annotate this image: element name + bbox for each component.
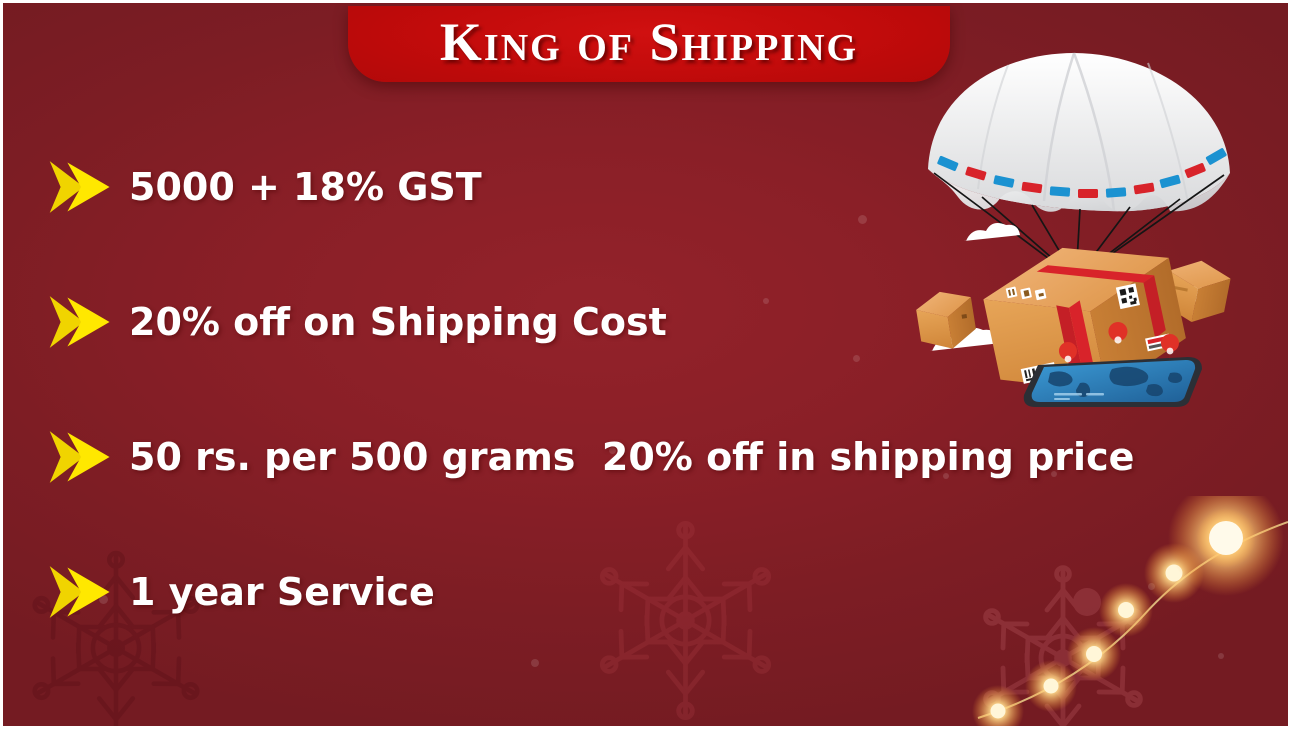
list-item: 50 rs. per 500 grams 20% off in shipping… <box>47 423 1227 491</box>
list-item: 1 year Service <box>47 558 1227 626</box>
list-item-label: 1 year Service <box>129 573 435 611</box>
double-chevron-icon <box>47 423 115 491</box>
double-chevron-icon <box>47 153 115 221</box>
title-banner: King of Shipping <box>348 6 950 82</box>
parachute-package-delivery-illustration <box>908 51 1260 421</box>
double-chevron-icon <box>47 288 115 356</box>
promo-banner: King of Shipping 5000 + 18% GST 20% off … <box>0 0 1291 729</box>
list-item-label: 50 rs. per 500 grams 20% off in shipping… <box>129 438 1134 476</box>
decorative-dot <box>531 659 539 667</box>
page-title: King of Shipping <box>440 15 858 73</box>
list-item-label: 20% off on Shipping Cost <box>129 303 667 341</box>
list-item-label: 5000 + 18% GST <box>129 168 482 206</box>
double-chevron-icon <box>47 558 115 626</box>
parachute-canopy <box>928 53 1230 212</box>
